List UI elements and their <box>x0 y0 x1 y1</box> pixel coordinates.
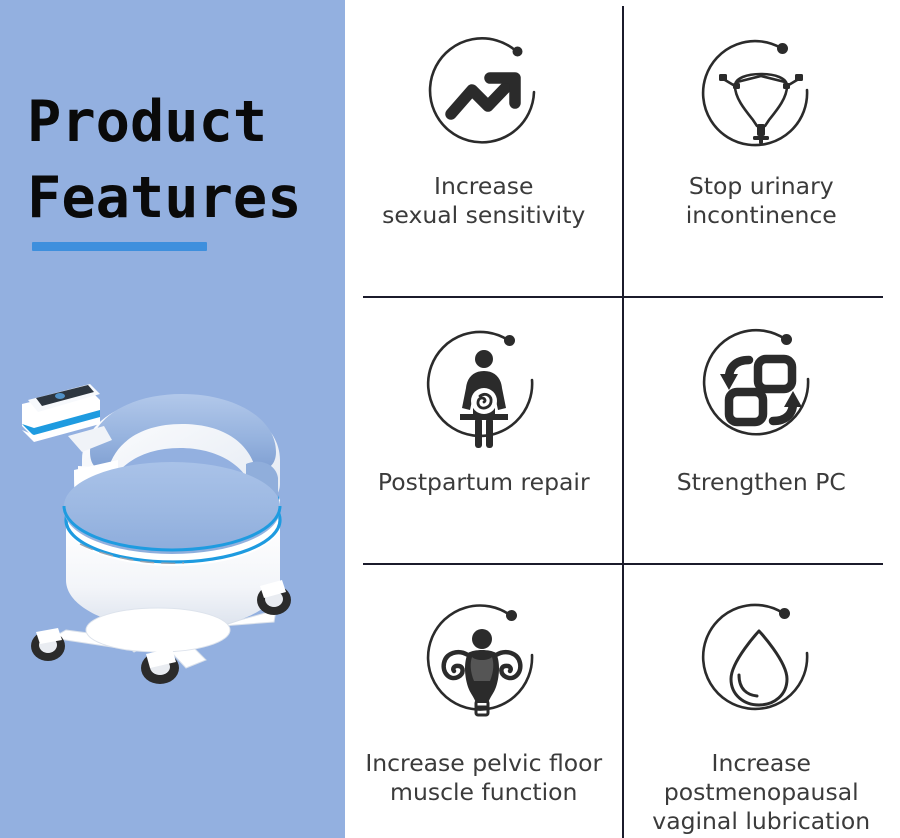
feature-cell-postpartum-repair[interactable]: Postpartum repair <box>345 296 623 573</box>
feature-cell-strengthen-pc[interactable]: Strengthen PC <box>623 296 900 573</box>
product-image <box>8 348 338 700</box>
feature-label: Stop urinary incontinence <box>686 172 837 230</box>
feature-cell-stop-urinary-incontinence[interactable]: Stop urinary incontinence <box>623 0 900 296</box>
exchange-arrows-icon <box>691 318 831 458</box>
divider-vertical-1 <box>622 6 624 296</box>
feature-label: Postpartum repair <box>378 468 590 497</box>
water-drop-icon <box>691 595 831 735</box>
feature-label: Increase sexual sensitivity <box>382 172 585 230</box>
feature-cell-increase-sexual-sensitivity[interactable]: Increase sexual sensitivity <box>345 0 623 296</box>
title-underline <box>32 242 207 251</box>
trending-up-icon <box>414 26 554 166</box>
feature-cell-increase-postmenopausal-vaginal-lubrication[interactable]: Increase postmenopausal vaginal lubricat… <box>623 573 900 838</box>
left-panel: Product Features <box>0 0 345 838</box>
divider-vertical-3 <box>622 565 624 838</box>
pregnant-woman-icon <box>414 318 554 458</box>
divider-vertical-2 <box>622 298 624 563</box>
page-title: Product Features <box>27 84 327 251</box>
features-panel: Increase sexual sensitivity <box>345 0 900 838</box>
feature-label: Increase postmenopausal vaginal lubricat… <box>652 749 870 836</box>
feature-cell-increase-pelvic-floor-muscle-function[interactable]: Increase pelvic floor muscle function <box>345 573 623 838</box>
title-line-2: Features <box>27 160 327 236</box>
controller-panel <box>22 384 112 452</box>
bladder-icon <box>691 26 831 166</box>
pelvic-chair-illustration <box>8 348 338 700</box>
title-line-1: Product <box>27 84 327 160</box>
feature-label: Increase pelvic floor muscle function <box>365 749 602 807</box>
product-features-page: Product Features <box>0 0 900 838</box>
uterus-icon <box>414 595 554 735</box>
feature-label: Strengthen PC <box>677 468 846 497</box>
